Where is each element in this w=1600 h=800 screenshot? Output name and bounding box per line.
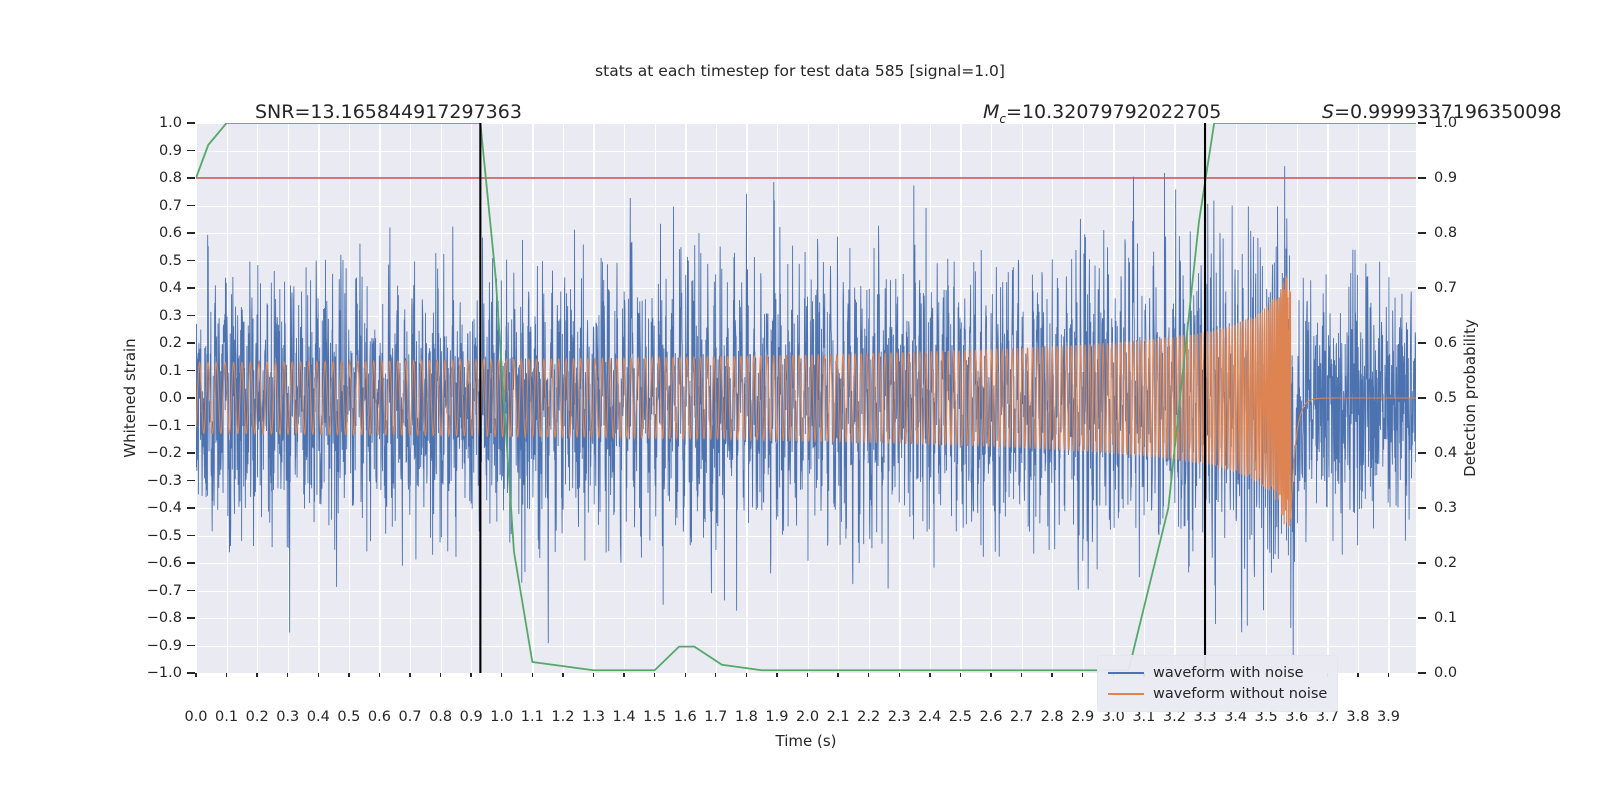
y-right-tick-mark	[1418, 617, 1426, 618]
y-axis-right-label: Detection probability	[1461, 319, 1479, 477]
x-tick-label: 0.0	[184, 709, 207, 725]
legend-item-0[interactable]: waveform with noise	[1108, 662, 1327, 683]
legend-label-1: waveform without noise	[1153, 686, 1327, 702]
x-tick-label: 1.7	[704, 709, 727, 725]
y-left-tick-label: 0.6	[159, 225, 182, 241]
y-left-tick-label: −0.9	[147, 638, 182, 654]
x-tick-mark	[623, 673, 624, 677]
annotation-score-value: =0.9999337196350098	[1334, 101, 1561, 123]
y-left-tick-mark	[187, 672, 195, 673]
x-tick-mark	[929, 673, 930, 677]
x-tick-mark	[776, 673, 777, 677]
y-left-tick-label: 0.1	[159, 363, 182, 379]
y-left-tick-mark	[187, 590, 195, 591]
data-series-layer	[196, 123, 1416, 673]
x-tick-mark	[287, 673, 288, 677]
y-left-tick-mark	[187, 370, 195, 371]
y-right-tick-mark	[1418, 397, 1426, 398]
legend-swatch-noise	[1108, 672, 1144, 674]
y-right-tick-label: 0.4	[1434, 445, 1457, 461]
chart-title: stats at each timestep for test data 585…	[0, 62, 1600, 80]
x-tick-label: 2.1	[827, 709, 850, 725]
x-tick-mark	[715, 673, 716, 677]
y-left-tick-label: −0.7	[147, 583, 182, 599]
y-left-tick-mark	[187, 535, 195, 536]
annotation-score: S=0.9999337196350098	[1322, 101, 1562, 123]
x-tick-label: 2.3	[888, 709, 911, 725]
y-left-tick-label: −1.0	[147, 665, 182, 681]
y-left-tick-mark	[187, 645, 195, 646]
annotation-snr-text: SNR=13.165844917297363	[255, 101, 522, 123]
x-tick-label: 2.7	[1010, 709, 1033, 725]
legend-label-0: waveform with noise	[1153, 665, 1304, 681]
x-tick-label: 1.4	[613, 709, 636, 725]
y-left-tick-label: 0.5	[159, 253, 182, 269]
y-right-tick-label: 0.7	[1434, 280, 1457, 296]
x-tick-mark	[1388, 673, 1389, 677]
x-tick-label: 2.8	[1041, 709, 1064, 725]
x-tick-mark	[318, 673, 319, 677]
x-tick-label: 3.9	[1377, 709, 1400, 725]
y-left-tick-label: −0.2	[147, 445, 182, 461]
annotation-chirp-mass: Mc=10.32079792022705	[983, 101, 1221, 126]
annotation-chirp-mass-value: =10.32079792022705	[1006, 101, 1221, 123]
y-left-tick-label: −0.4	[147, 500, 182, 516]
y-left-tick-mark	[187, 315, 195, 316]
x-tick-label: 0.4	[307, 709, 330, 725]
y-right-tick-label: 0.0	[1434, 665, 1457, 681]
x-tick-mark	[868, 673, 869, 677]
legend[interactable]: waveform with noise waveform without noi…	[1097, 655, 1338, 712]
x-tick-mark	[226, 673, 227, 677]
y-axis-left-label: Whitened strain	[121, 338, 139, 457]
x-tick-label: 2.2	[857, 709, 880, 725]
x-tick-mark	[1082, 673, 1083, 677]
y-left-tick-mark	[187, 452, 195, 453]
x-tick-mark	[440, 673, 441, 677]
y-right-tick-label: 0.3	[1434, 500, 1457, 516]
y-right-tick-mark	[1418, 507, 1426, 508]
y-right-tick-label: 0.1	[1434, 610, 1457, 626]
y-left-tick-label: 1.0	[159, 115, 182, 131]
annotation-score-symbol: S	[1322, 101, 1334, 123]
y-left-tick-mark	[187, 342, 195, 343]
y-left-tick-mark	[187, 260, 195, 261]
x-tick-label: 1.5	[643, 709, 666, 725]
y-left-tick-mark	[187, 425, 195, 426]
x-tick-label: 0.7	[399, 709, 422, 725]
annotation-snr: SNR=13.165844917297363	[255, 101, 522, 123]
y-left-tick-label: −0.8	[147, 610, 182, 626]
plot-area[interactable]	[196, 123, 1416, 673]
legend-item-1[interactable]: waveform without noise	[1108, 683, 1327, 704]
x-tick-label: 2.5	[949, 709, 972, 725]
x-tick-label: 0.3	[276, 709, 299, 725]
y-left-tick-label: −0.3	[147, 473, 182, 489]
x-tick-label: 2.9	[1071, 709, 1094, 725]
x-axis-label: Time (s)	[196, 732, 1416, 750]
y-left-tick-mark	[187, 232, 195, 233]
x-tick-mark	[807, 673, 808, 677]
y-right-tick-mark	[1418, 287, 1426, 288]
x-tick-mark	[654, 673, 655, 677]
x-tick-mark	[1357, 673, 1358, 677]
x-tick-mark	[256, 673, 257, 677]
y-left-tick-mark	[187, 205, 195, 206]
y-left-tick-mark	[187, 617, 195, 618]
y-left-tick-mark	[187, 150, 195, 151]
x-tick-mark	[1051, 673, 1052, 677]
x-tick-label: 2.4	[918, 709, 941, 725]
x-tick-mark	[195, 673, 196, 677]
x-tick-label: 0.9	[460, 709, 483, 725]
x-tick-mark	[470, 673, 471, 677]
x-tick-label: 2.0	[796, 709, 819, 725]
y-right-tick-label: 0.6	[1434, 335, 1457, 351]
x-tick-mark	[348, 673, 349, 677]
y-right-tick-mark	[1418, 452, 1426, 453]
y-right-tick-label: 0.9	[1434, 170, 1457, 186]
x-tick-label: 1.8	[735, 709, 758, 725]
y-left-tick-mark	[187, 507, 195, 508]
y-right-tick-mark	[1418, 342, 1426, 343]
y-left-tick-label: 0.8	[159, 170, 182, 186]
x-tick-mark	[960, 673, 961, 677]
x-tick-label: 0.5	[337, 709, 360, 725]
y-left-tick-label: 0.7	[159, 198, 182, 214]
y-right-tick-label: 0.2	[1434, 555, 1457, 571]
x-tick-mark	[593, 673, 594, 677]
x-tick-label: 0.1	[215, 709, 238, 725]
x-tick-mark	[685, 673, 686, 677]
x-tick-mark	[746, 673, 747, 677]
x-tick-label: 0.8	[429, 709, 452, 725]
y-left-tick-label: 0.0	[159, 390, 182, 406]
x-tick-label: 0.6	[368, 709, 391, 725]
x-tick-mark	[562, 673, 563, 677]
x-tick-label: 1.0	[490, 709, 513, 725]
x-tick-label: 3.8	[1346, 709, 1369, 725]
y-left-tick-label: 0.3	[159, 308, 182, 324]
x-tick-label: 1.3	[582, 709, 605, 725]
y-right-tick-label: 0.8	[1434, 225, 1457, 241]
y-left-tick-label: −0.5	[147, 528, 182, 544]
x-tick-mark	[990, 673, 991, 677]
x-tick-mark	[379, 673, 380, 677]
y-right-tick-mark	[1418, 232, 1426, 233]
y-right-tick-mark	[1418, 672, 1426, 673]
y-right-tick-mark	[1418, 177, 1426, 178]
figure-canvas: stats at each timestep for test data 585…	[0, 0, 1600, 800]
y-left-tick-label: 0.2	[159, 335, 182, 351]
y-left-tick-label: −0.6	[147, 555, 182, 571]
y-left-tick-label: 0.4	[159, 280, 182, 296]
x-tick-label: 1.9	[765, 709, 788, 725]
y-left-tick-mark	[187, 397, 195, 398]
x-tick-mark	[532, 673, 533, 677]
y-left-tick-mark	[187, 562, 195, 563]
y-left-tick-mark	[187, 480, 195, 481]
annotation-chirp-mass-symbol: M	[983, 101, 999, 123]
y-right-tick-label: 0.5	[1434, 390, 1457, 406]
y-left-tick-mark	[187, 177, 195, 178]
x-tick-label: 1.1	[521, 709, 544, 725]
x-tick-label: 0.2	[246, 709, 269, 725]
x-tick-label: 1.2	[551, 709, 574, 725]
y-left-tick-mark	[187, 122, 195, 123]
x-tick-mark	[899, 673, 900, 677]
x-tick-label: 1.6	[674, 709, 697, 725]
x-tick-mark	[501, 673, 502, 677]
y-left-tick-mark	[187, 287, 195, 288]
x-tick-mark	[1021, 673, 1022, 677]
y-left-tick-label: 0.9	[159, 143, 182, 159]
y-right-tick-mark	[1418, 562, 1426, 563]
y-left-tick-label: −0.1	[147, 418, 182, 434]
x-tick-mark	[409, 673, 410, 677]
x-tick-mark	[837, 673, 838, 677]
x-tick-label: 2.6	[979, 709, 1002, 725]
legend-swatch-clean	[1108, 693, 1144, 695]
